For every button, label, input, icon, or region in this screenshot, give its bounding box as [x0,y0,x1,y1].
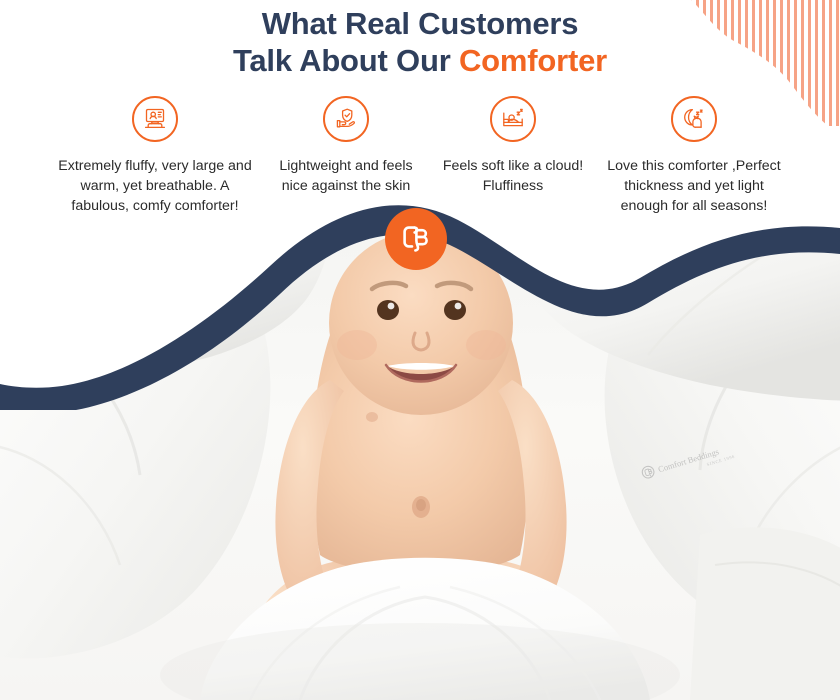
headline-accent-word: Comforter [459,43,607,78]
testimonial-item: Love this comforter ,Perfect thickness a… [596,96,792,216]
testimonial-item: Lightweight and feels nice against the s… [262,96,430,196]
testimonial-quote: Feels soft like a cloud! Fluffiness [436,156,590,196]
testimonial-quote: Love this comforter ,Perfect thickness a… [602,156,786,216]
testimonial-item: Feels soft like a cloud! Fluffiness [430,96,596,196]
headline-line-1: What Real Customers [0,6,840,43]
brand-logo-badge[interactable] [385,208,447,270]
testimonial-quote: Lightweight and feels nice against the s… [268,156,424,196]
comfort-beddings-monogram-icon [396,219,436,259]
headline-line-2-prefix: Talk About Our [233,43,459,78]
testimonial-item: Extremely fluffy, very large and warm, y… [48,96,262,216]
hand-holding-shield-check-icon [323,96,369,142]
sleeping-person-in-bed-icon [490,96,536,142]
hero-photo [0,205,840,700]
headline-line-2: Talk About Our Comforter [0,43,840,80]
baby-bedding-photo-illustration [0,205,840,700]
testimonials-banner: What Real Customers Talk About Our Comfo… [0,0,840,700]
person-in-bed-video-icon [132,96,178,142]
page-title: What Real Customers Talk About Our Comfo… [0,6,840,79]
moon-sleeping-cat-icon [671,96,717,142]
testimonial-list: Extremely fluffy, very large and warm, y… [0,96,840,216]
testimonial-quote: Extremely fluffy, very large and warm, y… [54,156,256,216]
top-content-panel: What Real Customers Talk About Our Comfo… [0,0,840,215]
